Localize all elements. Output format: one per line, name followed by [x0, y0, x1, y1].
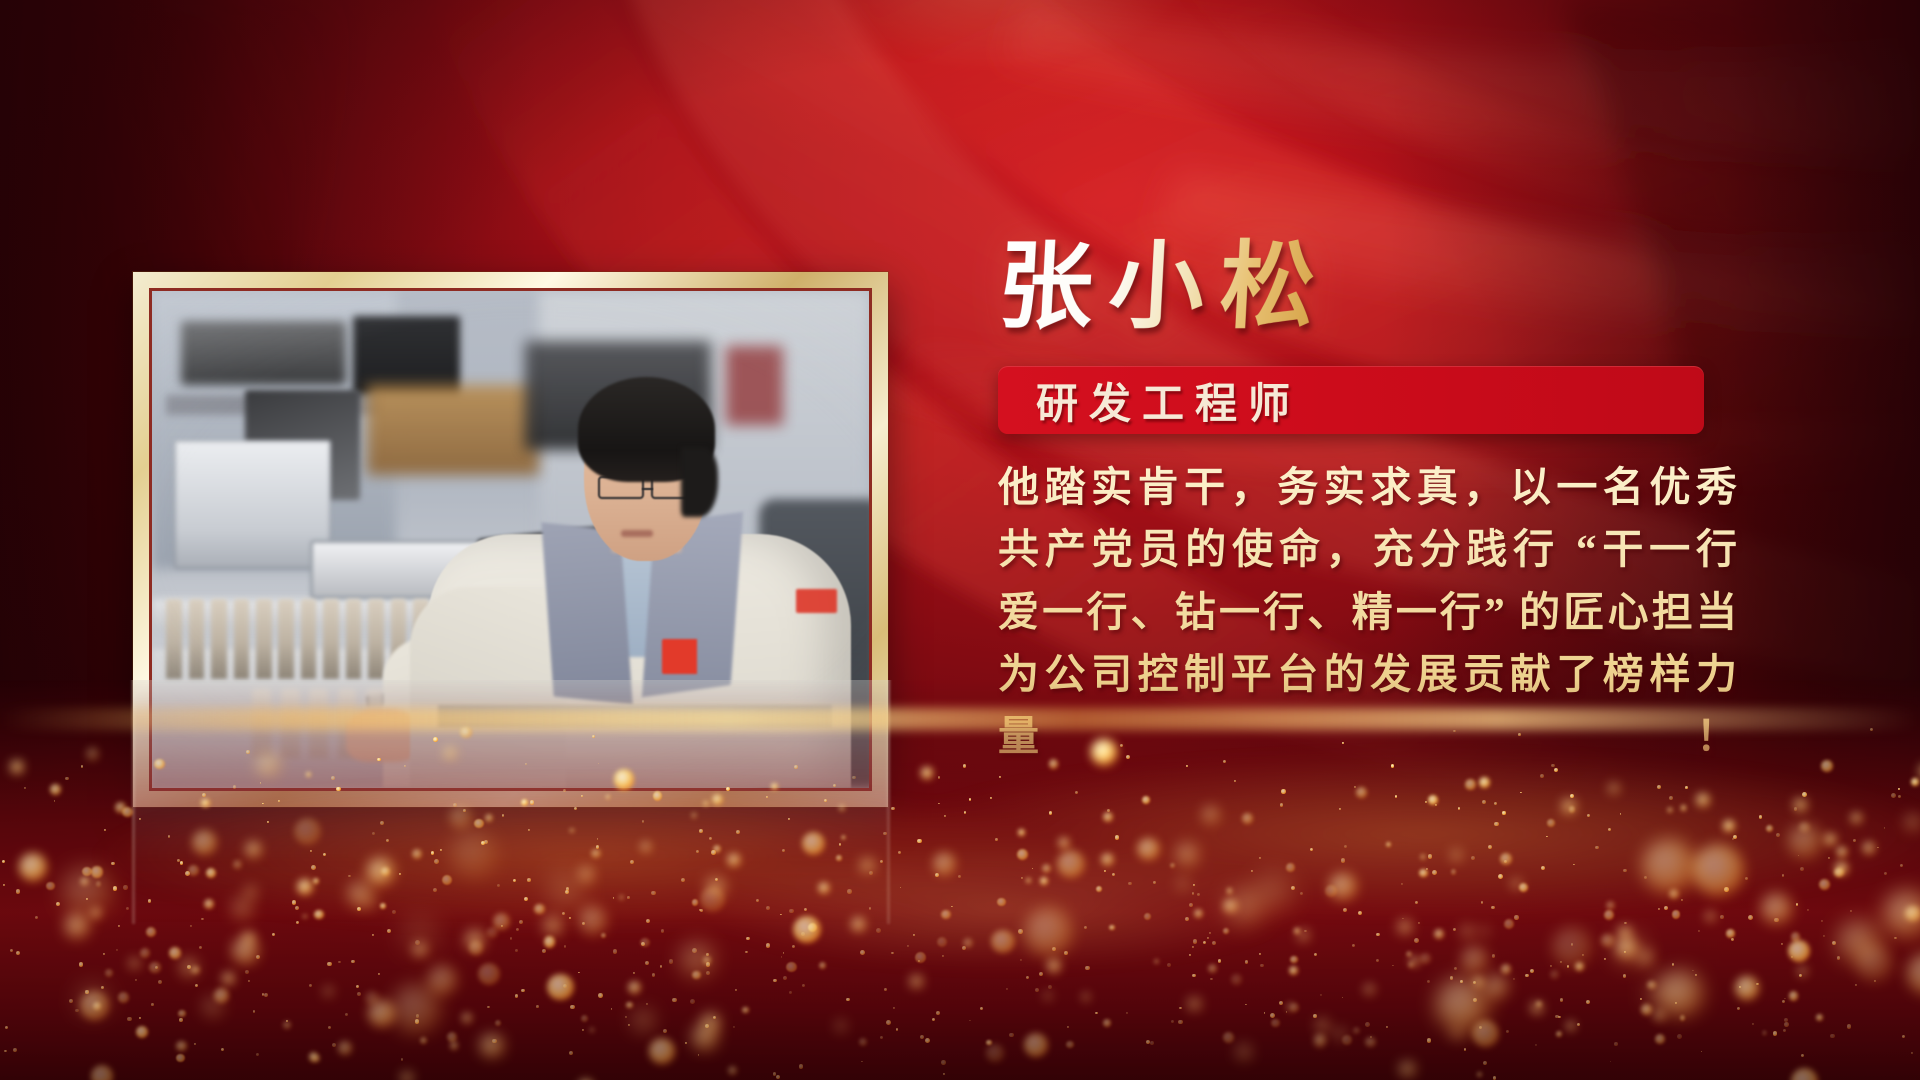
description-line: 爱一行、钻一行、精一行” 的匠心担当 — [998, 581, 1738, 643]
role-badge: 研发工程师 — [998, 366, 1704, 434]
description-line: 共产党员的使命，充分践行 “干一行 — [998, 518, 1738, 580]
portrait-frame-inner — [149, 288, 872, 791]
description-line: 他踏实肯干，务实求真，以一名优秀 — [998, 456, 1738, 518]
name-line: 张小松 — [998, 236, 1758, 348]
portrait-photo — [152, 291, 869, 788]
role-badge-label: 研发工程师 — [1036, 370, 1301, 431]
portrait-frame — [133, 272, 888, 807]
poster-canvas: 张小松 研发工程师 他踏实肯干，务实求真，以一名优秀 共产党员的使命，充分践行 … — [0, 0, 1920, 1080]
info-column: 张小松 研发工程师 他踏实肯干，务实求真，以一名优秀 共产党员的使命，充分践行 … — [998, 236, 1758, 768]
person-description: 他踏实肯干，务实求真，以一名优秀 共产党员的使命，充分践行 “干一行 爱一行、钻… — [998, 456, 1738, 768]
description-line: 为公司控制平台的发展贡献了榜样力量！ — [998, 643, 1738, 768]
person-name: 张小松 — [995, 236, 1333, 339]
